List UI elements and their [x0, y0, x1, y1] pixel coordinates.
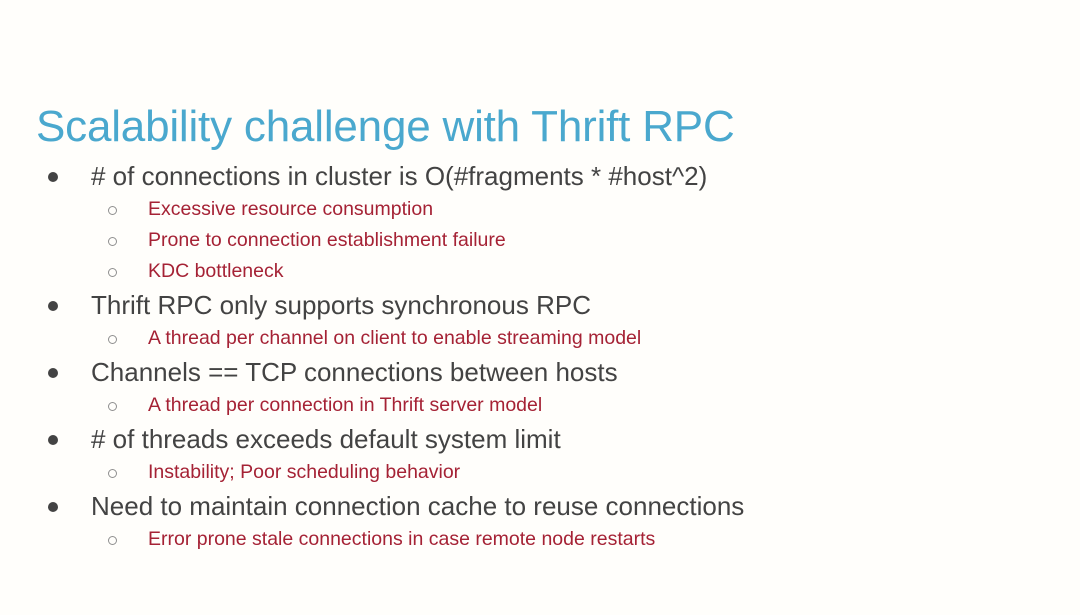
bullet-level1: Thrift RPC only supports synchronous RPC [0, 287, 1080, 323]
bullet-level1-label: Thrift RPC only supports synchronous RPC [91, 290, 591, 320]
bullet-level1: # of connections in cluster is O(#fragme… [0, 158, 1080, 194]
bullet-level2: KDC bottleneck [0, 256, 1080, 287]
bullet-level1: # of threads exceeds default system limi… [0, 421, 1080, 457]
bullet-level2-label: Excessive resource consumption [148, 198, 433, 220]
bullet-level2-label: A thread per connection in Thrift server… [148, 394, 542, 416]
bullet-level1-label: Channels == TCP connections between host… [91, 357, 618, 387]
slide-canvas: Scalability challenge with Thrift RPC # … [0, 0, 1080, 615]
filled-disc-bullet-icon [48, 368, 58, 378]
bullet-group: Need to maintain connection cache to reu… [0, 488, 1080, 555]
hollow-circle-bullet-icon [108, 206, 117, 215]
bullet-group: # of connections in cluster is O(#fragme… [0, 158, 1080, 287]
hollow-circle-bullet-icon [108, 335, 117, 344]
slide-body-bullet-list: # of connections in cluster is O(#fragme… [0, 158, 1080, 555]
sub-bullet-list: A thread per connection in Thrift server… [0, 390, 1080, 421]
bullet-level2: Instability; Poor scheduling behavior [0, 457, 1080, 488]
bullet-level2-label: KDC bottleneck [148, 260, 283, 282]
bullet-level2-label: Error prone stale connections in case re… [148, 528, 655, 550]
hollow-circle-bullet-icon [108, 536, 117, 545]
sub-bullet-list: A thread per channel on client to enable… [0, 323, 1080, 354]
bullet-level2-label: Instability; Poor scheduling behavior [148, 461, 460, 483]
page-title: Scalability challenge with Thrift RPC [36, 101, 735, 153]
bullet-level2: Excessive resource consumption [0, 194, 1080, 225]
bullet-group: Channels == TCP connections between host… [0, 354, 1080, 421]
filled-disc-bullet-icon [48, 301, 58, 311]
filled-disc-bullet-icon [48, 172, 58, 182]
hollow-circle-bullet-icon [108, 268, 117, 277]
bullet-level1-label: # of threads exceeds default system limi… [91, 424, 561, 454]
bullet-level1-label: Need to maintain connection cache to reu… [91, 491, 744, 521]
bullet-group: # of threads exceeds default system limi… [0, 421, 1080, 488]
hollow-circle-bullet-icon [108, 469, 117, 478]
sub-bullet-list: Instability; Poor scheduling behavior [0, 457, 1080, 488]
bullet-level2-label: Prone to connection establishment failur… [148, 229, 506, 251]
hollow-circle-bullet-icon [108, 402, 117, 411]
hollow-circle-bullet-icon [108, 237, 117, 246]
bullet-level2: Prone to connection establishment failur… [0, 225, 1080, 256]
sub-bullet-list: Excessive resource consumption Prone to … [0, 194, 1080, 287]
bullet-group: Thrift RPC only supports synchronous RPC… [0, 287, 1080, 354]
bullet-level2: Error prone stale connections in case re… [0, 524, 1080, 555]
filled-disc-bullet-icon [48, 435, 58, 445]
bullet-level1: Channels == TCP connections between host… [0, 354, 1080, 390]
bullet-level1-label: # of connections in cluster is O(#fragme… [91, 161, 707, 191]
bullet-level1: Need to maintain connection cache to reu… [0, 488, 1080, 524]
filled-disc-bullet-icon [48, 502, 58, 512]
bullet-level2-label: A thread per channel on client to enable… [148, 327, 641, 349]
sub-bullet-list: Error prone stale connections in case re… [0, 524, 1080, 555]
bullet-level2: A thread per channel on client to enable… [0, 323, 1080, 354]
bullet-level2: A thread per connection in Thrift server… [0, 390, 1080, 421]
